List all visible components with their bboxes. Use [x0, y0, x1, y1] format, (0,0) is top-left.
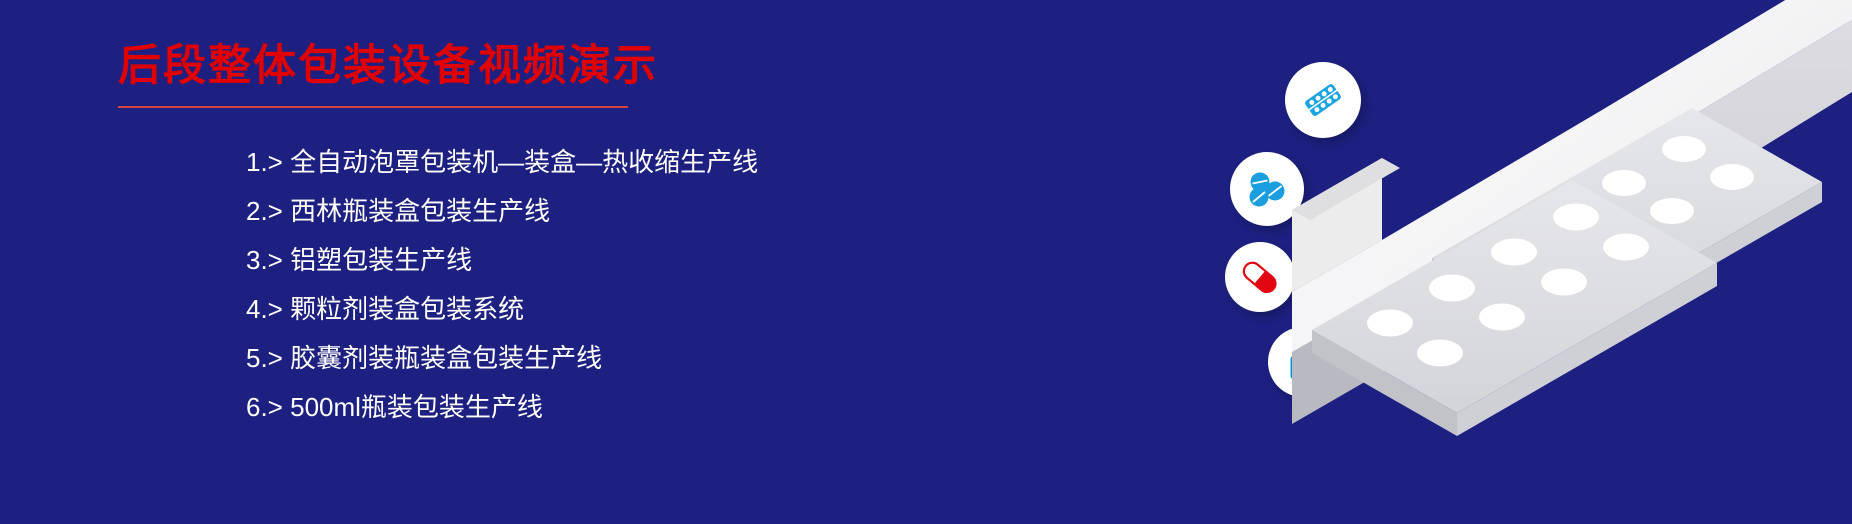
list-item-number: 3.>: [246, 245, 283, 275]
list-item-label: 颗粒剂装盒包装系统: [290, 294, 524, 324]
list-item-label: 西林瓶装盒包装生产线: [290, 196, 550, 226]
list-item[interactable]: 2.> 西林瓶装盒包装生产线: [246, 187, 1018, 236]
page-title: 后段整体包装设备视频演示: [118, 40, 1018, 94]
list-item-number: 6.>: [246, 392, 283, 422]
list-item-label: 铝塑包装生产线: [290, 245, 472, 275]
list-item[interactable]: 5.> 胶囊剂装瓶装盒包装生产线: [246, 334, 1018, 383]
video-list: 1.> 全自动泡罩包装机—装盒—热收缩生产线 2.> 西林瓶装盒包装生产线 3.…: [118, 138, 1018, 432]
list-item-number: 5.>: [246, 343, 283, 373]
title-underline: [118, 106, 628, 108]
product-illustration: [1132, 0, 1852, 524]
list-item-label: 500ml瓶装包装生产线: [290, 392, 543, 422]
list-item-label: 胶囊剂装瓶装盒包装生产线: [290, 343, 602, 373]
list-item[interactable]: 1.> 全自动泡罩包装机—装盒—热收缩生产线: [246, 138, 1018, 187]
banner: 后段整体包装设备视频演示 1.> 全自动泡罩包装机—装盒—热收缩生产线 2.> …: [0, 0, 1852, 524]
list-item[interactable]: 4.> 颗粒剂装盒包装系统: [246, 285, 1018, 334]
list-item-number: 4.>: [246, 294, 283, 324]
text-block: 后段整体包装设备视频演示 1.> 全自动泡罩包装机—装盒—热收缩生产线 2.> …: [118, 40, 1018, 432]
list-item[interactable]: 6.> 500ml瓶装包装生产线: [246, 383, 1018, 432]
list-item-number: 2.>: [246, 196, 283, 226]
list-item-number: 1.>: [246, 147, 283, 177]
list-item-label: 全自动泡罩包装机—装盒—热收缩生产线: [290, 147, 758, 177]
list-item[interactable]: 3.> 铝塑包装生产线: [246, 236, 1018, 285]
blister-pack-carton-illustration: [1132, 0, 1852, 524]
